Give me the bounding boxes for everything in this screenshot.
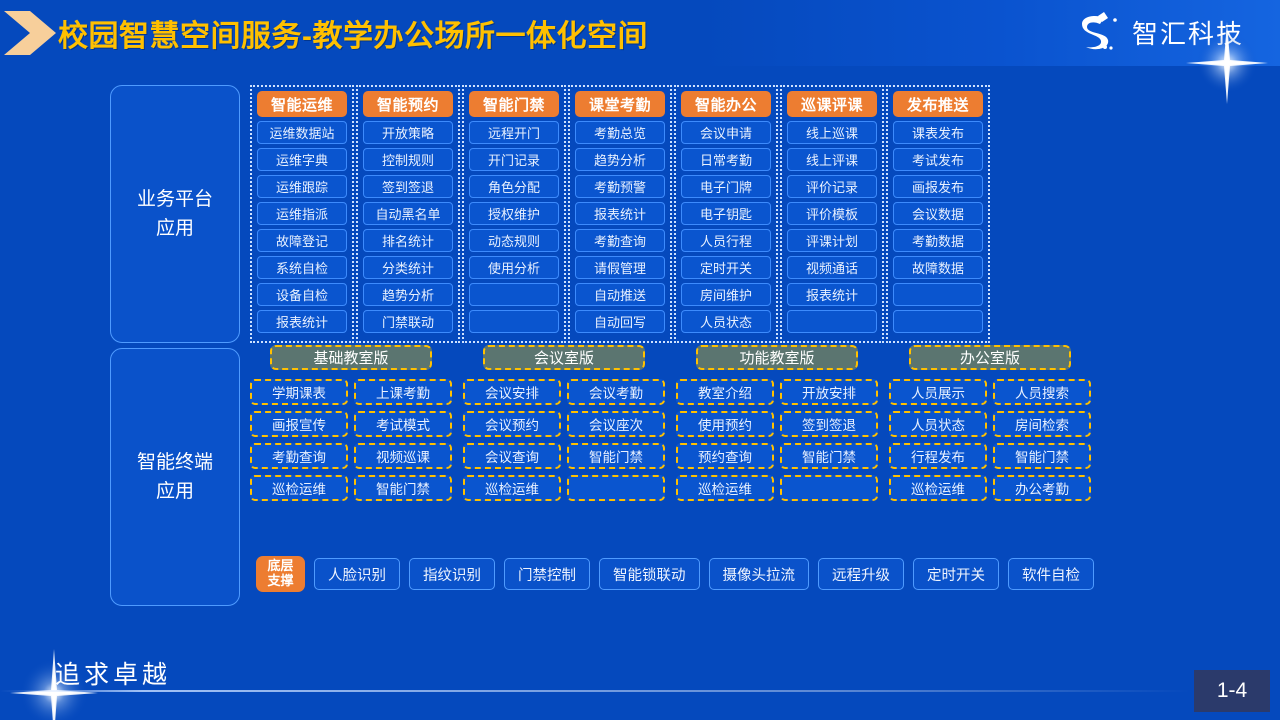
platform-cell[interactable]: 电子门牌	[681, 175, 771, 198]
rail-business-platform: 业务平台应用	[110, 85, 240, 343]
terminal-cell[interactable]: 智能门禁	[567, 443, 665, 469]
terminal-cell[interactable]: 上课考勤	[354, 379, 452, 405]
support-item[interactable]: 远程升级	[818, 558, 904, 590]
platform-cell[interactable]: 自动黑名单	[363, 202, 453, 225]
terminal-cell[interactable]: 办公考勤	[993, 475, 1091, 501]
platform-column-header[interactable]: 智能办公	[681, 91, 771, 117]
terminal-cell[interactable]: 巡检运维	[463, 475, 561, 501]
terminal-cell[interactable]: 考试模式	[354, 411, 452, 437]
terminal-cell[interactable]: 考勤查询	[250, 443, 348, 469]
platform-cell[interactable]: 运维数据站	[257, 121, 347, 144]
platform-cell[interactable]: 运维跟踪	[257, 175, 347, 198]
terminal-cell[interactable]: 预约查询	[676, 443, 774, 469]
platform-cell[interactable]: 人员行程	[681, 229, 771, 252]
terminal-cell[interactable]: 人员状态	[889, 411, 987, 437]
support-item[interactable]: 摄像头拉流	[709, 558, 810, 590]
platform-cell[interactable]: 画报发布	[893, 175, 983, 198]
terminal-group-grid: 学期课表上课考勤画报宣传考试模式考勤查询视频巡课巡检运维智能门禁	[250, 379, 452, 501]
platform-cell[interactable]: 课表发布	[893, 121, 983, 144]
platform-cell-empty	[787, 310, 877, 333]
terminal-group: 功能教室版教室介绍开放安排使用预约签到签退预约查询智能门禁巡检运维	[676, 345, 878, 525]
terminal-cell-empty	[780, 475, 878, 501]
platform-cell[interactable]: 故障登记	[257, 229, 347, 252]
platform-column: 智能办公会议申请日常考勤电子门牌电子钥匙人员行程定时开关房间维护人员状态	[674, 85, 778, 343]
platform-cell[interactable]: 自动推送	[575, 283, 665, 306]
terminal-cell[interactable]: 巡检运维	[250, 475, 348, 501]
brand-logo: 智汇科技	[1074, 10, 1244, 54]
platform-cell[interactable]: 考勤预警	[575, 175, 665, 198]
terminal-cell[interactable]: 使用预约	[676, 411, 774, 437]
platform-column-header[interactable]: 智能门禁	[469, 91, 559, 117]
platform-cell[interactable]: 开放策略	[363, 121, 453, 144]
platform-cell[interactable]: 设备自检	[257, 283, 347, 306]
platform-column-header[interactable]: 发布推送	[893, 91, 983, 117]
support-badge-line2: 支撑	[267, 574, 293, 589]
support-item[interactable]: 定时开关	[913, 558, 999, 590]
terminal-group-header[interactable]: 会议室版	[483, 345, 645, 370]
platform-cell[interactable]: 开门记录	[469, 148, 559, 171]
platform-cell[interactable]: 控制规则	[363, 148, 453, 171]
platform-cell[interactable]: 授权维护	[469, 202, 559, 225]
platform-cell[interactable]: 线上评课	[787, 148, 877, 171]
terminal-cell[interactable]: 巡检运维	[889, 475, 987, 501]
terminal-cell[interactable]: 开放安排	[780, 379, 878, 405]
platform-cell[interactable]: 排名统计	[363, 229, 453, 252]
platform-column: 智能运维运维数据站运维字典运维跟踪运维指派故障登记系统自检设备自检报表统计	[250, 85, 354, 343]
platform-cell-empty	[469, 310, 559, 333]
platform-cell[interactable]: 评价模板	[787, 202, 877, 225]
page-header: 校园智慧空间服务-教学办公场所一体化空间 智汇科技	[0, 0, 1280, 66]
platform-cell[interactable]: 报表统计	[257, 310, 347, 333]
platform-cell[interactable]: 定时开关	[681, 256, 771, 279]
rail-smart-terminal: 智能终端应用	[110, 348, 240, 606]
support-item[interactable]: 门禁控制	[504, 558, 590, 590]
platform-cell[interactable]: 考勤查询	[575, 229, 665, 252]
platform-cell[interactable]: 运维指派	[257, 202, 347, 225]
platform-cell[interactable]: 故障数据	[893, 256, 983, 279]
platform-cell[interactable]: 视频通话	[787, 256, 877, 279]
platform-cell[interactable]: 报表统计	[787, 283, 877, 306]
support-item[interactable]: 软件自检	[1008, 558, 1094, 590]
platform-cell[interactable]: 趋势分析	[363, 283, 453, 306]
terminal-cell[interactable]: 智能门禁	[354, 475, 452, 501]
platform-cell[interactable]: 使用分析	[469, 256, 559, 279]
terminal-cell[interactable]: 视频巡课	[354, 443, 452, 469]
platform-cell[interactable]: 趋势分析	[575, 148, 665, 171]
terminal-cell[interactable]: 房间检索	[993, 411, 1091, 437]
footer-divider	[0, 690, 1190, 692]
support-row: 底层 支撑 人脸识别指纹识别门禁控制智能锁联动摄像头拉流远程升级定时开关软件自检	[256, 556, 1094, 592]
platform-cell[interactable]: 考勤数据	[893, 229, 983, 252]
terminal-cell-empty	[567, 475, 665, 501]
platform-cell[interactable]: 考试发布	[893, 148, 983, 171]
platform-cell[interactable]: 评价记录	[787, 175, 877, 198]
platform-cell[interactable]: 线上巡课	[787, 121, 877, 144]
page-number-badge: 1-4	[1194, 670, 1270, 712]
terminal-cell[interactable]: 学期课表	[250, 379, 348, 405]
rail-label: 智能终端应用	[137, 448, 213, 507]
platform-column: 课堂考勤考勤总览趋势分析考勤预警报表统计考勤查询请假管理自动推送自动回写	[568, 85, 672, 343]
support-item[interactable]: 人脸识别	[314, 558, 400, 590]
support-badge-line1: 底层	[267, 559, 293, 574]
chevron-right-icon	[4, 8, 62, 58]
platform-cell[interactable]: 考勤总览	[575, 121, 665, 144]
platform-cell-empty	[893, 283, 983, 306]
platform-column: 智能预约开放策略控制规则签到签退自动黑名单排名统计分类统计趋势分析门禁联动	[356, 85, 460, 343]
terminal-cell[interactable]: 行程发布	[889, 443, 987, 469]
terminal-cell[interactable]: 人员搜索	[993, 379, 1091, 405]
platform-cell-empty	[893, 310, 983, 333]
platform-cell[interactable]: 运维字典	[257, 148, 347, 171]
brand-name: 智汇科技	[1132, 14, 1244, 51]
terminal-group-header[interactable]: 办公室版	[909, 345, 1071, 370]
brand-mark-icon	[1074, 10, 1124, 54]
terminal-group: 办公室版人员展示人员搜索人员状态房间检索行程发布智能门禁巡检运维办公考勤	[889, 345, 1091, 525]
platform-column-header[interactable]: 课堂考勤	[575, 91, 665, 117]
terminal-group-grid: 教室介绍开放安排使用预约签到签退预约查询智能门禁巡检运维	[676, 379, 878, 501]
terminal-cell[interactable]: 教室介绍	[676, 379, 774, 405]
platform-cell[interactable]: 人员状态	[681, 310, 771, 333]
terminal-groups: 基础教室版学期课表上课考勤画报宣传考试模式考勤查询视频巡课巡检运维智能门禁会议室…	[250, 345, 1100, 525]
platform-cell[interactable]: 角色分配	[469, 175, 559, 198]
terminal-cell[interactable]: 会议查询	[463, 443, 561, 469]
terminal-group-grid: 人员展示人员搜索人员状态房间检索行程发布智能门禁巡检运维办公考勤	[889, 379, 1091, 501]
platform-cell[interactable]: 评课计划	[787, 229, 877, 252]
platform-cell-empty	[469, 283, 559, 306]
terminal-group-header[interactable]: 基础教室版	[270, 345, 432, 370]
platform-column-header[interactable]: 智能运维	[257, 91, 347, 117]
terminal-group-header[interactable]: 功能教室版	[696, 345, 858, 370]
footer-slogan: 追求卓越	[55, 655, 171, 691]
platform-cell[interactable]: 签到签退	[363, 175, 453, 198]
platform-column: 发布推送课表发布考试发布画报发布会议数据考勤数据故障数据	[886, 85, 990, 343]
terminal-cell[interactable]: 签到签退	[780, 411, 878, 437]
page-title: 校园智慧空间服务-教学办公场所一体化空间	[58, 8, 648, 58]
terminal-cell[interactable]: 会议预约	[463, 411, 561, 437]
platform-column-header[interactable]: 智能预约	[363, 91, 453, 117]
platform-cell[interactable]: 系统自检	[257, 256, 347, 279]
terminal-cell[interactable]: 画报宣传	[250, 411, 348, 437]
platform-cell[interactable]: 报表统计	[575, 202, 665, 225]
terminal-cell[interactable]: 人员展示	[889, 379, 987, 405]
platform-cell[interactable]: 会议申请	[681, 121, 771, 144]
terminal-cell[interactable]: 智能门禁	[780, 443, 878, 469]
terminal-cell[interactable]: 会议座次	[567, 411, 665, 437]
platform-cell[interactable]: 房间维护	[681, 283, 771, 306]
platform-columns: 智能运维运维数据站运维字典运维跟踪运维指派故障登记系统自检设备自检报表统计智能预…	[250, 85, 1100, 343]
platform-column: 巡课评课线上巡课线上评课评价记录评价模板评课计划视频通话报表统计	[780, 85, 884, 343]
terminal-cell[interactable]: 智能门禁	[993, 443, 1091, 469]
terminal-group: 会议室版会议安排会议考勤会议预约会议座次会议查询智能门禁巡检运维	[463, 345, 665, 525]
terminal-cell[interactable]: 会议考勤	[567, 379, 665, 405]
terminal-cell[interactable]: 会议安排	[463, 379, 561, 405]
support-item[interactable]: 智能锁联动	[599, 558, 700, 590]
platform-column: 智能门禁远程开门开门记录角色分配授权维护动态规则使用分析	[462, 85, 566, 343]
platform-cell[interactable]: 动态规则	[469, 229, 559, 252]
support-badge: 底层 支撑	[256, 556, 305, 592]
platform-cell[interactable]: 远程开门	[469, 121, 559, 144]
platform-cell[interactable]: 电子钥匙	[681, 202, 771, 225]
platform-column-header[interactable]: 巡课评课	[787, 91, 877, 117]
terminal-cell[interactable]: 巡检运维	[676, 475, 774, 501]
platform-cell[interactable]: 门禁联动	[363, 310, 453, 333]
platform-cell[interactable]: 自动回写	[575, 310, 665, 333]
support-item[interactable]: 指纹识别	[409, 558, 495, 590]
platform-cell[interactable]: 会议数据	[893, 202, 983, 225]
platform-cell[interactable]: 日常考勤	[681, 148, 771, 171]
platform-cell[interactable]: 分类统计	[363, 256, 453, 279]
rail-label: 业务平台应用	[137, 185, 213, 244]
terminal-group-grid: 会议安排会议考勤会议预约会议座次会议查询智能门禁巡检运维	[463, 379, 665, 501]
terminal-group: 基础教室版学期课表上课考勤画报宣传考试模式考勤查询视频巡课巡检运维智能门禁	[250, 345, 452, 525]
platform-cell[interactable]: 请假管理	[575, 256, 665, 279]
